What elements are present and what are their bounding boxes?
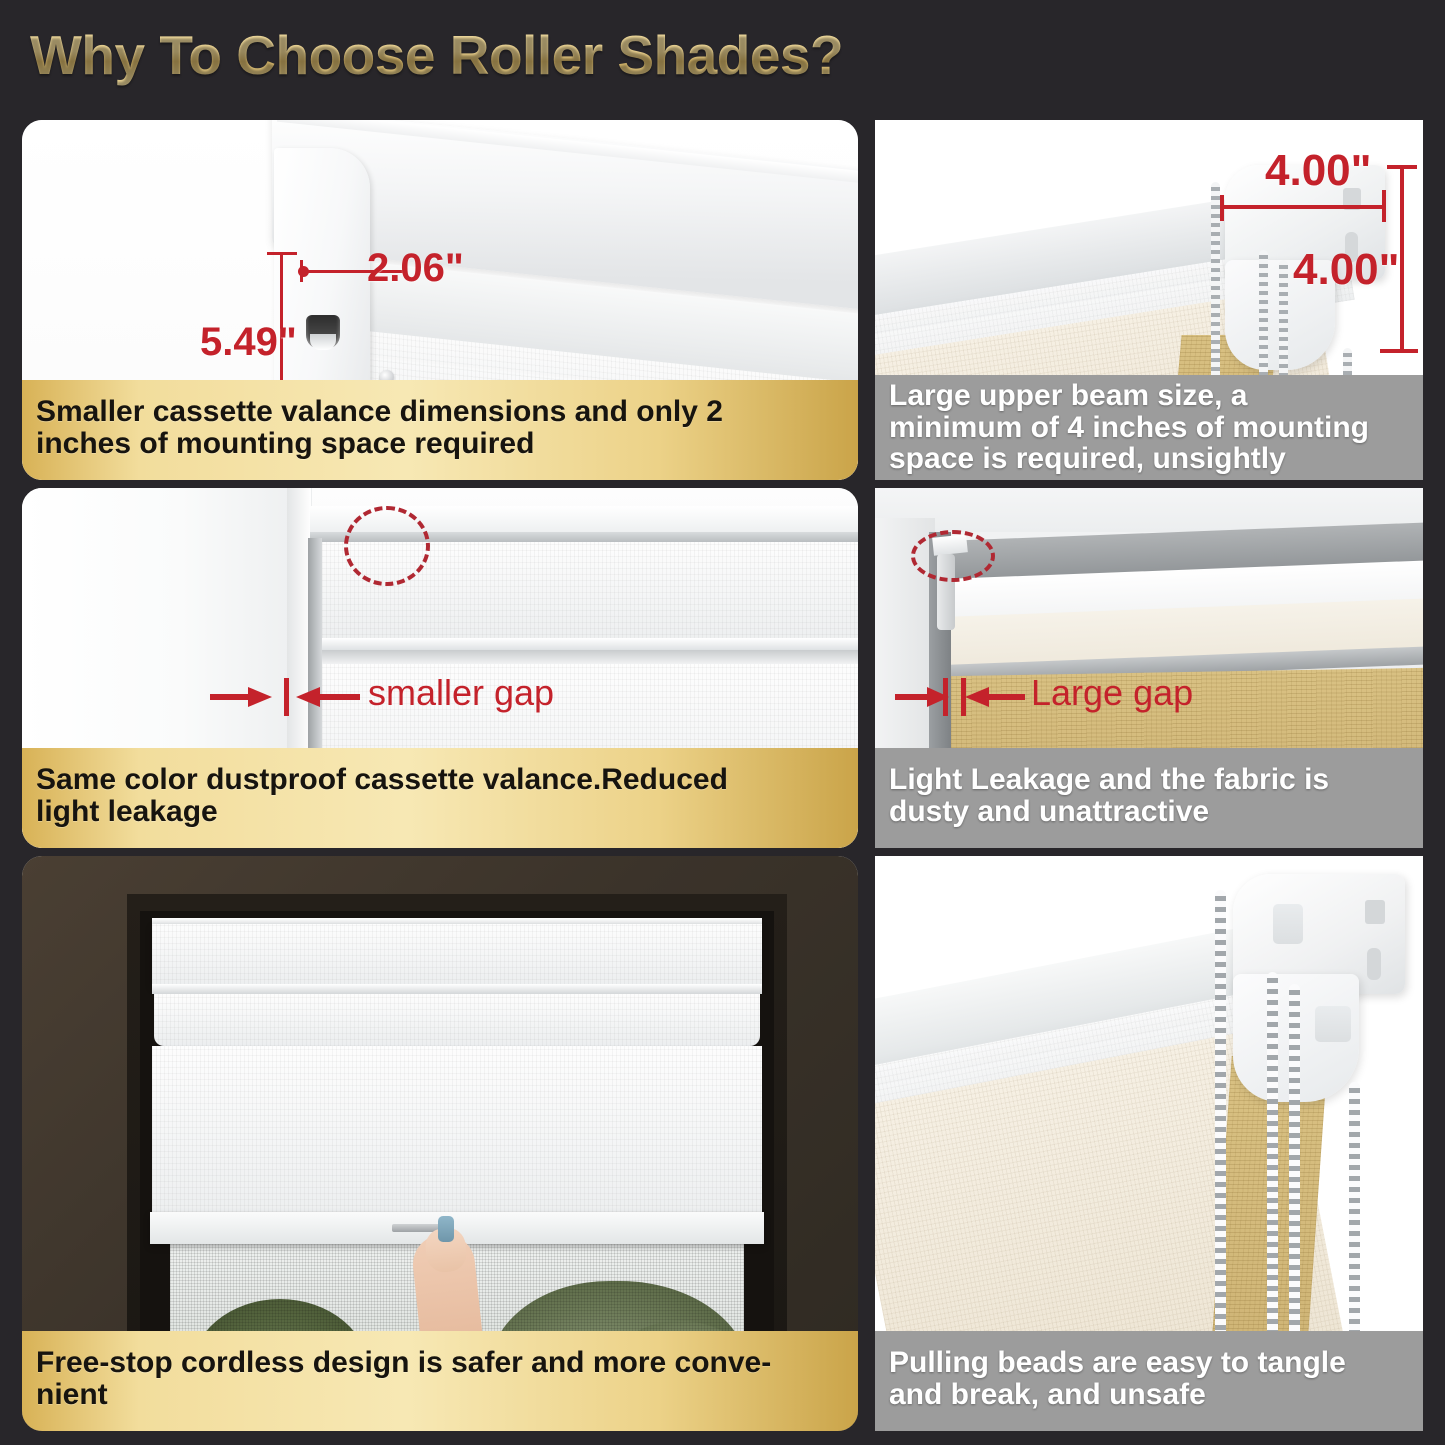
caption-cassette-valance-dimensions: Smaller cassette valance dimensions and … (22, 380, 858, 480)
height-dimension-label: 5.49" (200, 320, 297, 365)
caption-free-stop-cordless-design: Free-stop cordless design is safer and m… (22, 1331, 858, 1431)
caption-line: Smaller cassette valance dimensions and … (36, 396, 723, 428)
gap-arrow-right (294, 684, 360, 710)
gap-arrow-left (210, 684, 276, 710)
gap-marker (943, 678, 948, 716)
caption-line: Same color dustproof cassette valance.Re… (36, 764, 728, 796)
caption-light-leakage-dusty-fabric: Light Leakage and the fabric is dusty an… (875, 748, 1423, 848)
caption-pulling-beads-unsafe: Pulling beads are easy to tangle and bre… (875, 1331, 1423, 1431)
height-dimension-line (1400, 165, 1404, 353)
caption-large-upper-beam: Large upper beam size, a minimum of 4 in… (875, 375, 1423, 480)
header-bar: Why To Choose Roller Shades? (0, 0, 1445, 110)
comparison-grid: 5.49" 2.06" Smaller cassette valance dim… (0, 110, 1445, 1445)
caption-line: light leakage (36, 796, 728, 828)
highlight-ellipse (344, 506, 430, 586)
caption-line: Free-stop cordless design is safer and m… (36, 1347, 771, 1379)
page-title: Why To Choose Roller Shades? (30, 23, 843, 87)
panel-free-stop-cordless-design[interactable]: Free-stop cordless design is safer and m… (22, 856, 858, 1431)
highlight-ellipse (911, 530, 995, 582)
caption-line: inches of mounting space required (36, 428, 723, 460)
caption-line: space is required, unsightly (889, 443, 1369, 475)
gap-marker (284, 678, 289, 716)
caption-line: and break, and unsafe (889, 1379, 1346, 1411)
caption-line: minimum of 4 inches of mounting (889, 412, 1369, 444)
panel-pulling-beads-unsafe[interactable]: Pulling beads are easy to tangle and bre… (875, 856, 1423, 1431)
width-dimension-label: 4.00" (1265, 146, 1372, 196)
panel-cassette-valance-dimensions[interactable]: 5.49" 2.06" Smaller cassette valance dim… (22, 120, 858, 480)
panel-dustproof-cassette-valance[interactable]: smaller gap Same color dustproof cassett… (22, 488, 858, 848)
caption-line: Pulling beads are easy to tangle (889, 1347, 1346, 1379)
width-dimension-label: 2.06" (367, 246, 464, 291)
caption-line: nient (36, 1379, 771, 1411)
roller-shade-fabric (152, 1046, 762, 1224)
caption-line: Light Leakage and the fabric is (889, 764, 1329, 796)
width-dim-tick-left (1220, 195, 1224, 221)
height-dim-tick-top (267, 252, 297, 255)
height-dim-tick-top (1387, 165, 1417, 169)
gap-arrow-right (965, 684, 1025, 710)
caption-dustproof-cassette-valance: Same color dustproof cassette valance.Re… (22, 748, 858, 848)
panel-large-upper-beam[interactable]: 4.00" 4.00" Large upper beam size, a min… (875, 120, 1423, 480)
caption-line: dusty and unattractive (889, 796, 1329, 828)
panel-light-leakage-dusty-fabric[interactable]: Large gap Light Leakage and the fabric i… (875, 488, 1423, 848)
height-dimension-label: 4.00" (1293, 245, 1400, 295)
gap-callout-label: smaller gap (368, 672, 554, 714)
height-dim-tick-bottom (1380, 349, 1418, 353)
dimension-dot (298, 266, 309, 277)
gap-callout-label: Large gap (1031, 672, 1193, 714)
width-dim-tick-right (1382, 190, 1386, 222)
width-dimension-line (1220, 205, 1386, 209)
caption-line: Large upper beam size, a (889, 380, 1369, 412)
